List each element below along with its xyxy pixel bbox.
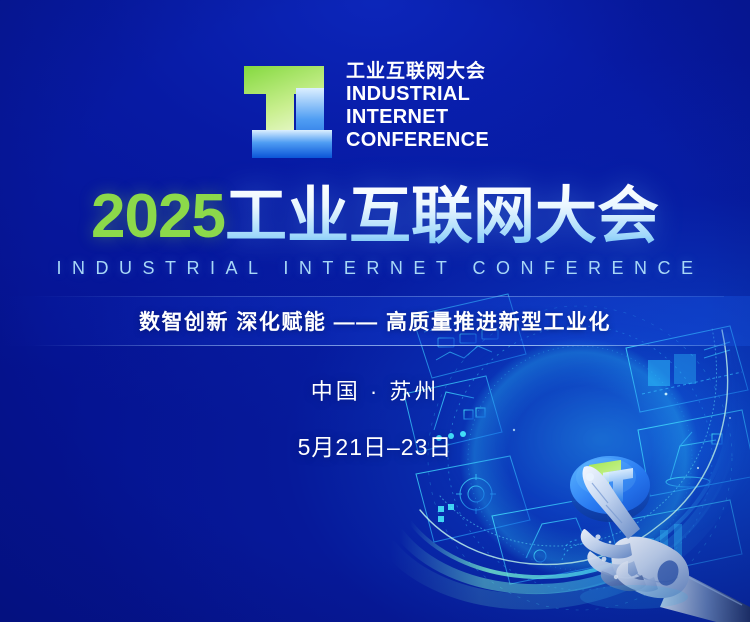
slogan-divider-bottom bbox=[32, 345, 724, 346]
header-english-line3: CONFERENCE bbox=[346, 129, 489, 152]
title-year: 2025 bbox=[91, 182, 225, 251]
header-english-line1: INDUSTRIAL bbox=[346, 83, 489, 106]
logo-blue-t-icon bbox=[252, 66, 332, 158]
header-logo: 工业互联网大会 INDUSTRIAL INTERNET CONFERENCE bbox=[244, 58, 489, 166]
conference-poster: 工业互联网大会 INDUSTRIAL INTERNET CONFERENCE 2… bbox=[0, 0, 750, 622]
slogan-text: 数智创新 深化赋能 —— 高质量推进新型工业化 bbox=[0, 306, 750, 336]
slogan-divider-top bbox=[32, 296, 724, 297]
title-chinese: 工业互联网大会 bbox=[225, 182, 659, 251]
title-english-tagline: INDUSTRIAL INTERNET CONFERENCE bbox=[0, 258, 750, 279]
tt-monogram-logo bbox=[244, 58, 332, 166]
event-details: 中国 · 苏州 5月21日–23日 bbox=[0, 374, 750, 462]
header-english-line2: INTERNET bbox=[346, 106, 489, 129]
robotic-hand-icon bbox=[564, 457, 750, 622]
main-title-block: 2025工业互联网大会 INDUSTRIAL INTERNET CONFEREN… bbox=[0, 186, 750, 279]
header-chinese-name: 工业互联网大会 bbox=[346, 62, 489, 83]
event-dates: 5月21日–23日 bbox=[0, 428, 750, 462]
header-logo-text: 工业互联网大会 INDUSTRIAL INTERNET CONFERENCE bbox=[346, 58, 489, 152]
event-location: 中国 · 苏州 bbox=[0, 374, 750, 406]
